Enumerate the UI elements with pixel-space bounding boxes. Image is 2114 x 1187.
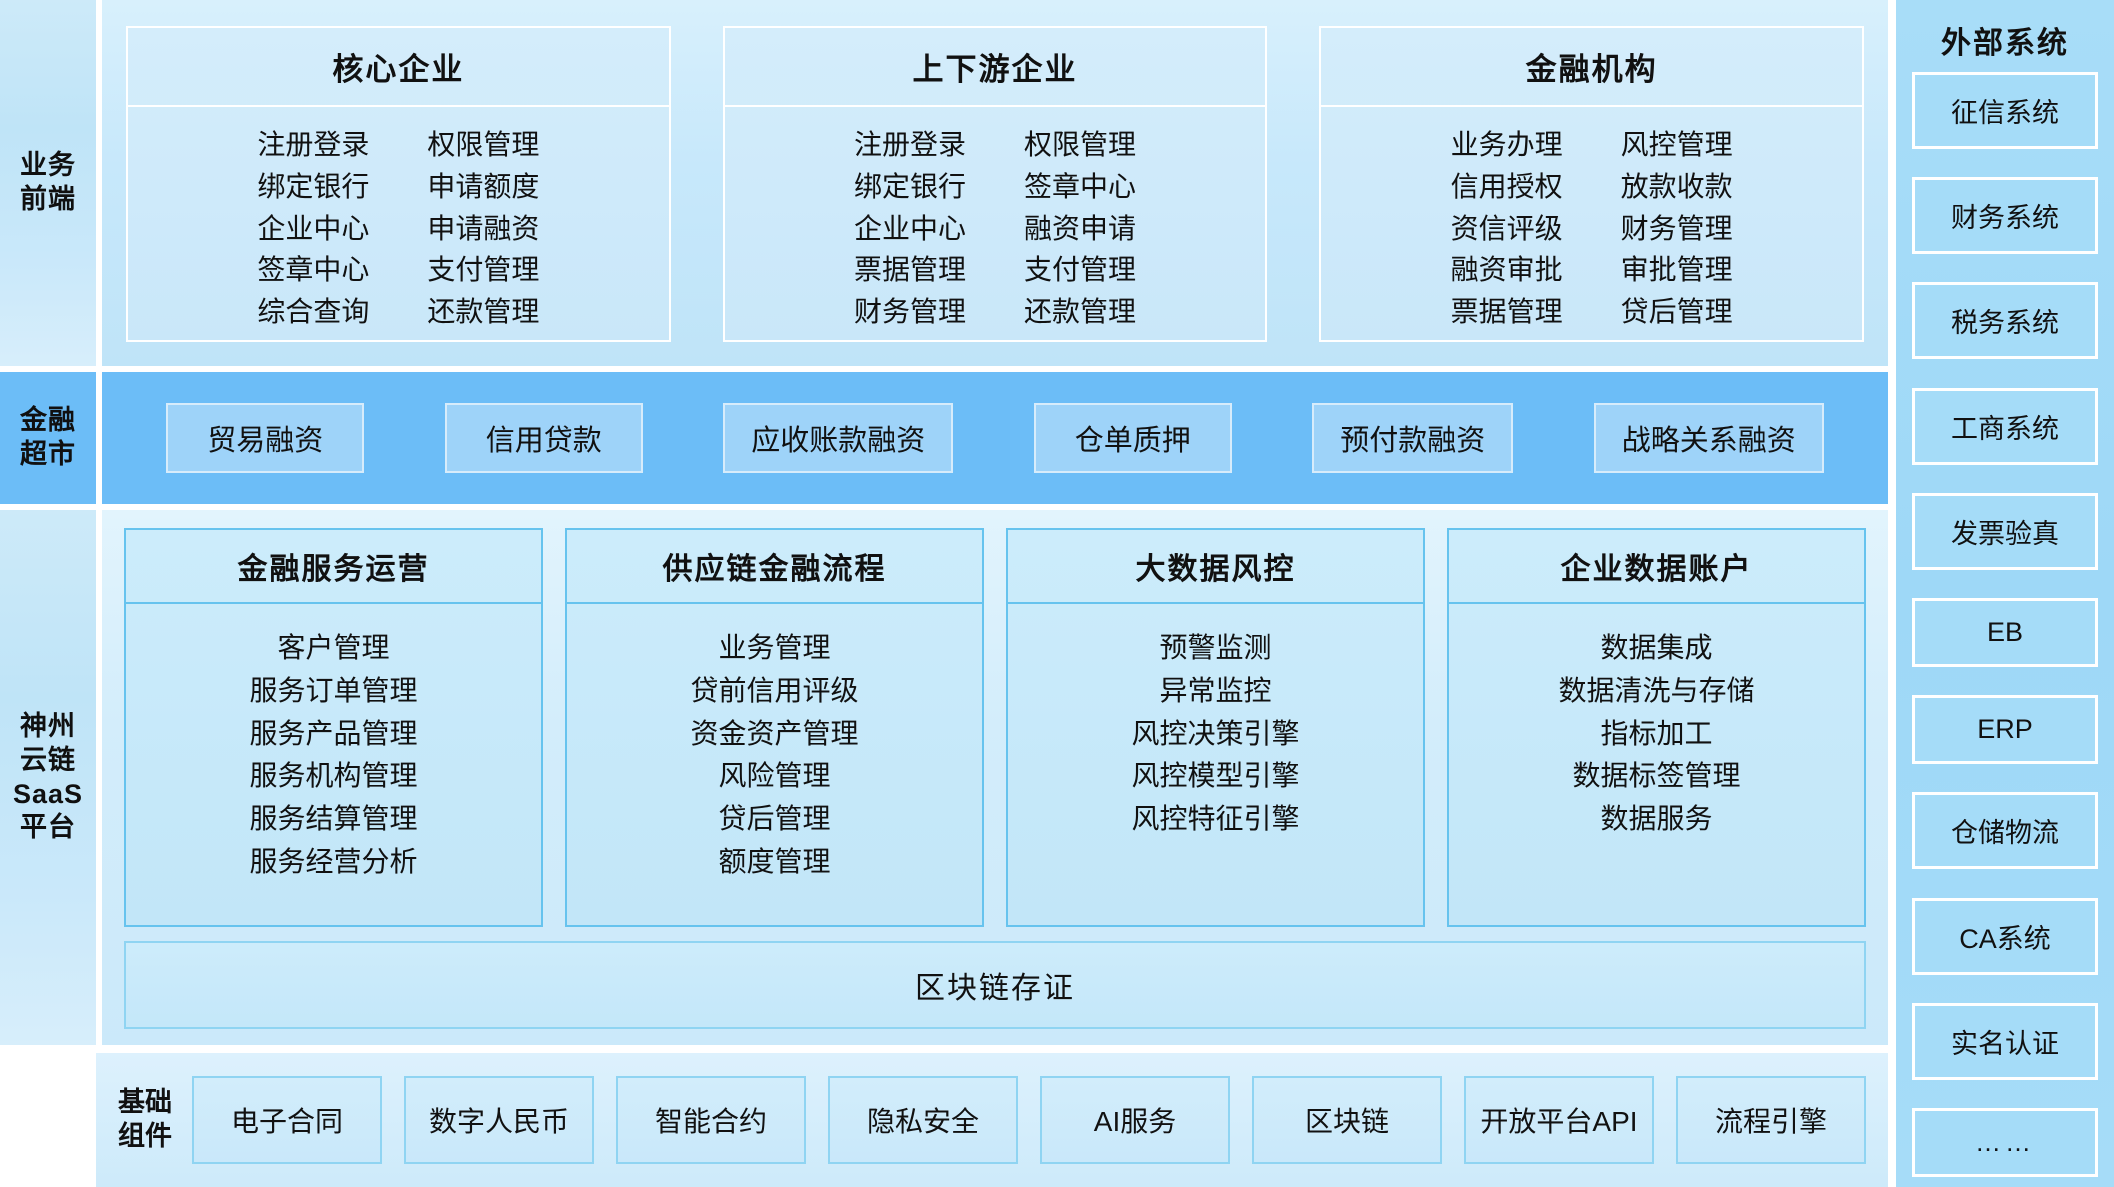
front-card-column-left: 注册登录 绑定银行 企业中心 票据管理 财务管理 (854, 125, 966, 332)
front-card-column-left: 业务办理 信用授权 资信评级 融资审批 票据管理 (1451, 125, 1563, 332)
front-item[interactable]: 票据管理 (1451, 292, 1563, 332)
front-item[interactable]: 申请融资 (427, 209, 539, 249)
saas-card-body: 预警监测 异常监控 风控决策引擎 风控模型引擎 风控特征引擎 (1008, 604, 1423, 925)
component-blockchain[interactable]: 区块链 (1252, 1076, 1442, 1164)
external-system-eb[interactable]: EB (1912, 598, 2098, 667)
saas-item[interactable]: 数据清洗与存储 (1558, 671, 1754, 711)
saas-item[interactable]: 风险管理 (718, 756, 830, 796)
external-system-tax[interactable]: 税务系统 (1912, 282, 2098, 359)
finance-market-body: 贸易融资 信用贷款 应收账款融资 仓单质押 预付款融资 战略关系融资 (102, 372, 1888, 504)
saas-card-title: 供应链金融流程 (567, 530, 982, 604)
saas-item[interactable]: 服务产品管理 (249, 714, 417, 754)
front-item[interactable]: 还款管理 (427, 292, 539, 332)
front-card-column-right: 权限管理 申请额度 申请融资 支付管理 还款管理 (427, 125, 539, 332)
saas-item[interactable]: 额度管理 (718, 842, 830, 882)
saas-item[interactable]: 业务管理 (718, 628, 830, 668)
layer-label-basic-components: 基础 组件 (118, 1086, 172, 1154)
front-item[interactable]: 签章中心 (257, 250, 369, 290)
component-open-platform-api[interactable]: 开放平台API (1464, 1076, 1654, 1164)
front-item[interactable]: 审批管理 (1621, 250, 1733, 290)
saas-item[interactable]: 客户管理 (277, 628, 389, 668)
saas-item[interactable]: 风控模型引擎 (1131, 756, 1299, 796)
front-item[interactable]: 风控管理 (1621, 125, 1733, 165)
component-ai-service[interactable]: AI服务 (1040, 1076, 1230, 1164)
saas-card-body: 数据集成 数据清洗与存储 指标加工 数据标签管理 数据服务 (1449, 604, 1864, 925)
market-item-credit-loan[interactable]: 信用贷款 (445, 403, 643, 473)
component-digital-rmb[interactable]: 数字人民币 (404, 1076, 594, 1164)
market-item-warehouse-receipt-pledge[interactable]: 仓单质押 (1034, 403, 1232, 473)
front-item[interactable]: 绑定银行 (854, 167, 966, 207)
layer-label-saas-platform: 神州 云链 SaaS 平台 (0, 510, 96, 1045)
external-systems-title: 外部系统 (1912, 6, 2098, 72)
front-item[interactable]: 权限管理 (1024, 125, 1136, 165)
saas-card-enterprise-data-account[interactable]: 企业数据账户 数据集成 数据清洗与存储 指标加工 数据标签管理 数据服务 (1447, 528, 1866, 927)
layer-basic-components: 基础 组件 电子合同 数字人民币 智能合约 隐私安全 AI服务 区块链 开放平台… (96, 1053, 1888, 1187)
market-item-trade-finance[interactable]: 贸易融资 (166, 403, 364, 473)
market-item-prepayment-finance[interactable]: 预付款融资 (1312, 403, 1513, 473)
saas-card-body: 业务管理 贷前信用评级 资金资产管理 风险管理 贷后管理 额度管理 (567, 604, 982, 925)
front-item[interactable]: 票据管理 (854, 250, 966, 290)
saas-item[interactable]: 数据服务 (1600, 799, 1712, 839)
saas-item[interactable]: 数据标签管理 (1572, 756, 1740, 796)
external-system-more[interactable]: …… (1912, 1108, 2098, 1177)
front-card-financial-institution[interactable]: 金融机构 业务办理 信用授权 资信评级 融资审批 票据管理 风控管理 放款收款 (1319, 26, 1864, 342)
front-card-core-enterprise[interactable]: 核心企业 注册登录 绑定银行 企业中心 签章中心 综合查询 权限管理 申请额度 (126, 26, 671, 342)
saas-item[interactable]: 指标加工 (1600, 714, 1712, 754)
front-item[interactable]: 企业中心 (257, 209, 369, 249)
saas-card-title: 企业数据账户 (1449, 530, 1864, 604)
market-item-strategic-relation-finance[interactable]: 战略关系融资 (1594, 403, 1824, 473)
front-item[interactable]: 财务管理 (854, 292, 966, 332)
external-system-warehouse-logistics[interactable]: 仓储物流 (1912, 792, 2098, 869)
front-card-body: 注册登录 绑定银行 企业中心 签章中心 综合查询 权限管理 申请额度 申请融资 … (128, 107, 669, 340)
saas-card-title: 金融服务运营 (126, 530, 541, 604)
front-card-upstream-downstream[interactable]: 上下游企业 注册登录 绑定银行 企业中心 票据管理 财务管理 权限管理 签章中心 (723, 26, 1268, 342)
component-smart-contract[interactable]: 智能合约 (616, 1076, 806, 1164)
saas-item[interactable]: 贷后管理 (718, 799, 830, 839)
saas-card-grid: 金融服务运营 客户管理 服务订单管理 服务产品管理 服务机构管理 服务结算管理 … (124, 528, 1866, 927)
front-card-body: 业务办理 信用授权 资信评级 融资审批 票据管理 风控管理 放款收款 财务管理 … (1321, 107, 1862, 340)
layer-business-frontend: 业务 前端 核心企业 注册登录 绑定银行 企业中心 签章中心 综合查询 权限管 (0, 0, 1888, 366)
main-layer-stack: 业务 前端 核心企业 注册登录 绑定银行 企业中心 签章中心 综合查询 权限管 (0, 0, 1888, 1187)
front-item[interactable]: 注册登录 (854, 125, 966, 165)
saas-item[interactable]: 预警监测 (1159, 628, 1271, 668)
blockchain-evidence-bar[interactable]: 区块链存证 (124, 941, 1866, 1029)
front-item[interactable]: 支付管理 (427, 250, 539, 290)
layer-finance-market: 金融 超市 贸易融资 信用贷款 应收账款融资 仓单质押 预付款融资 战略关系融资 (0, 372, 1888, 504)
front-card-title: 金融机构 (1321, 28, 1862, 107)
front-item[interactable]: 综合查询 (257, 292, 369, 332)
architecture-diagram: 业务 前端 核心企业 注册登录 绑定银行 企业中心 签章中心 综合查询 权限管 (0, 0, 2114, 1187)
component-privacy-security[interactable]: 隐私安全 (828, 1076, 1018, 1164)
component-electronic-contract[interactable]: 电子合同 (192, 1076, 382, 1164)
external-systems-list: 征信系统 财务系统 税务系统 工商系统 发票验真 EB ERP 仓储物流 CA系… (1912, 72, 2098, 1177)
front-item[interactable]: 申请额度 (427, 167, 539, 207)
layer-saas-platform: 神州 云链 SaaS 平台 金融服务运营 客户管理 服务订单管理 服务产品管理 … (0, 510, 1888, 1045)
saas-card-title: 大数据风控 (1008, 530, 1423, 604)
layer-label-finance-market: 金融 超市 (0, 372, 96, 504)
layer-label-business-frontend: 业务 前端 (0, 0, 96, 366)
front-card-column-right: 风控管理 放款收款 财务管理 审批管理 贷后管理 (1621, 125, 1733, 332)
external-system-invoice-verification[interactable]: 发票验真 (1912, 493, 2098, 570)
external-system-business-registration[interactable]: 工商系统 (1912, 388, 2098, 465)
saas-card-supply-chain-finance-process[interactable]: 供应链金融流程 业务管理 贷前信用评级 资金资产管理 风险管理 贷后管理 额度管… (565, 528, 984, 927)
saas-card-big-data-risk-control[interactable]: 大数据风控 预警监测 异常监控 风控决策引擎 风控模型引擎 风控特征引擎 (1006, 528, 1425, 927)
front-item[interactable]: 业务办理 (1451, 125, 1563, 165)
saas-item[interactable]: 服务订单管理 (249, 671, 417, 711)
front-card-body: 注册登录 绑定银行 企业中心 票据管理 财务管理 权限管理 签章中心 融资申请 … (725, 107, 1266, 340)
saas-item[interactable]: 风控决策引擎 (1131, 714, 1299, 754)
front-item[interactable]: 签章中心 (1024, 167, 1136, 207)
saas-card-financial-service-operation[interactable]: 金融服务运营 客户管理 服务订单管理 服务产品管理 服务机构管理 服务结算管理 … (124, 528, 543, 927)
saas-item[interactable]: 资金资产管理 (690, 714, 858, 754)
saas-item[interactable]: 异常监控 (1159, 671, 1271, 711)
external-system-erp[interactable]: ERP (1912, 695, 2098, 764)
front-card-column-right: 权限管理 签章中心 融资申请 支付管理 还款管理 (1024, 125, 1136, 332)
front-item[interactable]: 放款收款 (1621, 167, 1733, 207)
saas-item[interactable]: 服务机构管理 (249, 756, 417, 796)
saas-item[interactable]: 风控特征引擎 (1131, 799, 1299, 839)
component-process-engine[interactable]: 流程引擎 (1676, 1076, 1866, 1164)
front-card-title: 核心企业 (128, 28, 669, 107)
front-item[interactable]: 贷后管理 (1621, 292, 1733, 332)
external-system-real-name-auth[interactable]: 实名认证 (1912, 1003, 2098, 1080)
business-frontend-body: 核心企业 注册登录 绑定银行 企业中心 签章中心 综合查询 权限管理 申请额度 (102, 0, 1888, 366)
front-item[interactable]: 融资申请 (1024, 209, 1136, 249)
front-item[interactable]: 绑定银行 (257, 167, 369, 207)
front-card-column-left: 注册登录 绑定银行 企业中心 签章中心 综合查询 (257, 125, 369, 332)
front-item[interactable]: 支付管理 (1024, 250, 1136, 290)
basic-components-list: 电子合同 数字人民币 智能合约 隐私安全 AI服务 区块链 开放平台API 流程… (192, 1076, 1866, 1164)
external-system-credit-reference[interactable]: 征信系统 (1912, 72, 2098, 149)
front-item[interactable]: 还款管理 (1024, 292, 1136, 332)
front-item[interactable]: 财务管理 (1621, 209, 1733, 249)
saas-item[interactable]: 服务经营分析 (249, 842, 417, 882)
front-item[interactable]: 融资审批 (1451, 250, 1563, 290)
saas-item[interactable]: 数据集成 (1600, 628, 1712, 668)
front-item[interactable]: 权限管理 (427, 125, 539, 165)
external-system-ca[interactable]: CA系统 (1912, 898, 2098, 975)
external-system-finance[interactable]: 财务系统 (1912, 177, 2098, 254)
saas-card-body: 客户管理 服务订单管理 服务产品管理 服务机构管理 服务结算管理 服务经营分析 (126, 604, 541, 925)
saas-platform-body: 金融服务运营 客户管理 服务订单管理 服务产品管理 服务机构管理 服务结算管理 … (102, 510, 1888, 1045)
market-item-receivables-finance[interactable]: 应收账款融资 (723, 403, 953, 473)
saas-item[interactable]: 贷前信用评级 (690, 671, 858, 711)
external-systems-panel: 外部系统 征信系统 财务系统 税务系统 工商系统 发票验真 EB ERP 仓储物… (1896, 0, 2114, 1187)
front-item[interactable]: 资信评级 (1451, 209, 1563, 249)
front-item[interactable]: 企业中心 (854, 209, 966, 249)
saas-item[interactable]: 服务结算管理 (249, 799, 417, 839)
front-item[interactable]: 注册登录 (257, 125, 369, 165)
front-card-title: 上下游企业 (725, 28, 1266, 107)
front-item[interactable]: 信用授权 (1451, 167, 1563, 207)
